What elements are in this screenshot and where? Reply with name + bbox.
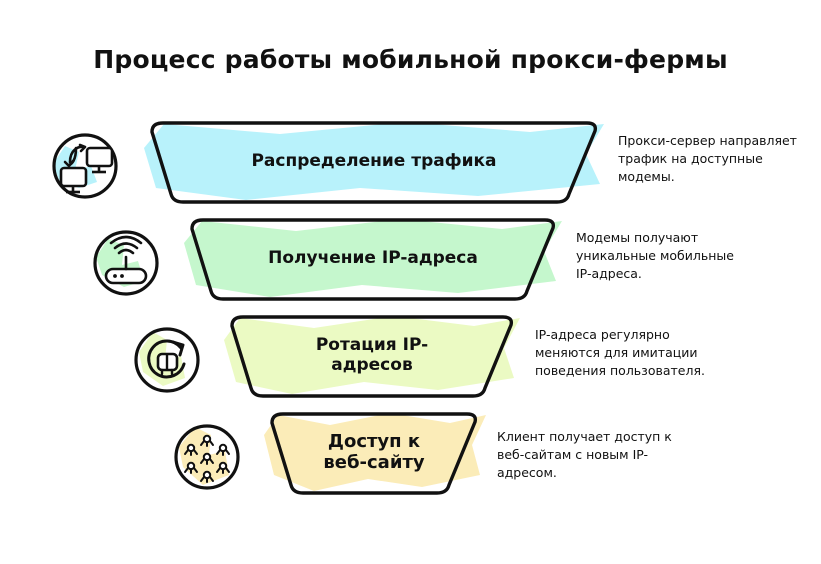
funnel-description-2: Модемы получают уникальные мобильные IP-…	[576, 229, 736, 282]
funnel-band-3[interactable]: Ротация IP-адресов	[218, 312, 526, 400]
funnel-stage-4: Доступ к веб-сайту Клиент получает досту…	[0, 409, 821, 504]
funnel-stage-1: Распределение трафика Прокси-сервер напр…	[0, 118, 821, 213]
funnel-description-3: IP-адреса регулярно меняются для имитаци…	[535, 326, 713, 379]
funnel-band-1[interactable]: Распределение трафика	[138, 118, 610, 206]
infographic-page: Процесс работы мобильной прокси-фермы	[0, 0, 821, 564]
funnel-stage-2: Получение IP-адреса Модемы получают уник…	[0, 215, 821, 310]
funnel-description-4: Клиент получает доступ к веб-сайтам с но…	[497, 428, 677, 481]
rotation-refresh-icon	[127, 320, 207, 400]
page-title: Процесс работы мобильной прокси-фермы	[0, 45, 821, 74]
network-nodes-icon	[167, 417, 247, 497]
wifi-router-icon	[86, 223, 166, 303]
funnel-band-4[interactable]: Доступ к веб-сайту	[258, 409, 490, 497]
funnel-band-2[interactable]: Получение IP-адреса	[178, 215, 568, 303]
funnel-description-1: Прокси-сервер направляет трафик на досту…	[618, 132, 798, 185]
funnel-stage-3: Ротация IP-адресов IP-адреса регулярно м…	[0, 312, 821, 407]
two-monitors-exchange-icon	[45, 126, 125, 206]
